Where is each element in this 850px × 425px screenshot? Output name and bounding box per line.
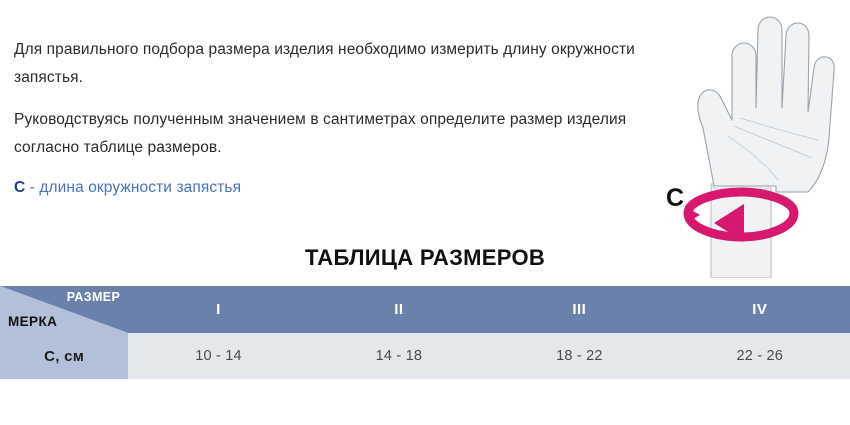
corner-measure-label: МЕРКА — [8, 314, 57, 329]
row-value-3: 18 - 22 — [489, 333, 669, 379]
size-column-header-2: II — [309, 286, 489, 333]
size-column-header-3: III — [489, 286, 669, 333]
legend-line: C - длина окружности запястья — [14, 176, 644, 200]
size-table: РАЗМЕР МЕРКА I II III IV C, см 10 - 14 1… — [0, 286, 850, 379]
row-value-4: 22 - 26 — [670, 333, 850, 379]
legend-dash: - — [25, 179, 39, 196]
intro-paragraph-2: Руководствуясь полученным значением в са… — [14, 106, 644, 162]
row-measure-label: C, см — [0, 333, 128, 379]
size-column-header-1: I — [128, 286, 308, 333]
size-table-header-row: РАЗМЕР МЕРКА I II III IV — [0, 286, 850, 333]
size-guide-page: Для правильного подбора размера изделия … — [0, 0, 850, 425]
hand-measurement-label: C — [666, 186, 684, 211]
open-palm-hand-icon — [648, 8, 848, 278]
row-value-1: 10 - 14 — [128, 333, 308, 379]
size-table-title: ТАБЛИЦА РАЗМЕРОВ — [0, 245, 850, 271]
intro-text-block: Для правильного подбора размера изделия … — [14, 36, 644, 200]
corner-size-label: РАЗМЕР — [67, 290, 121, 304]
size-column-header-4: IV — [670, 286, 850, 333]
legend-description: длина окружности запястья — [39, 179, 241, 196]
intro-paragraph-1: Для правильного подбора размера изделия … — [14, 36, 644, 92]
table-row: C, см 10 - 14 14 - 18 18 - 22 22 - 26 — [0, 333, 850, 379]
row-value-2: 14 - 18 — [309, 333, 489, 379]
hand-illustration: C — [648, 8, 848, 278]
size-table-corner-cell: РАЗМЕР МЕРКА — [0, 286, 128, 333]
legend-key: C — [14, 179, 25, 196]
